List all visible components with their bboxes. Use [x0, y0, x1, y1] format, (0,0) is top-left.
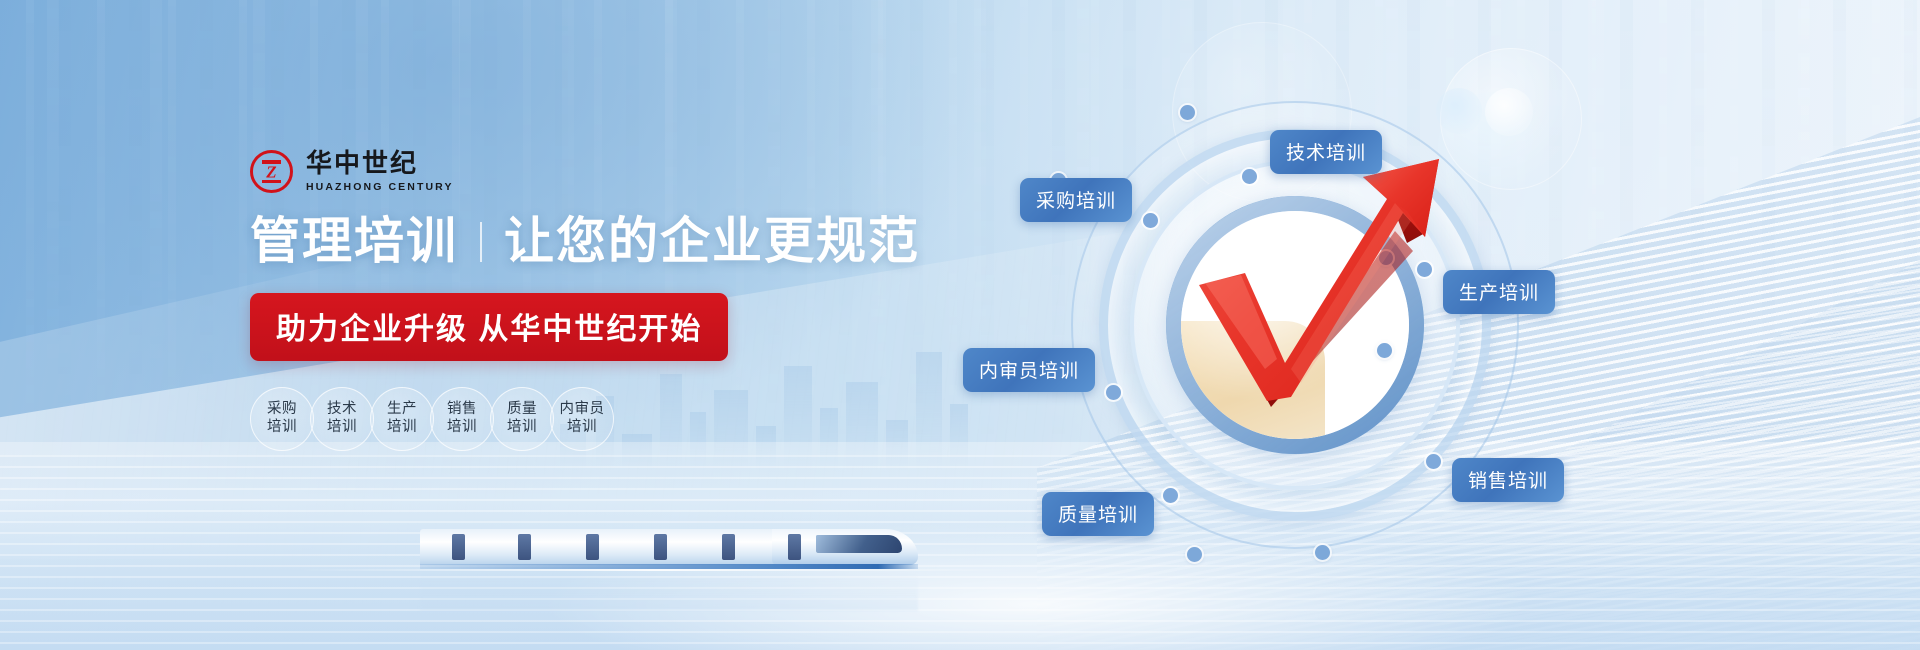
- headline-sub: 让您的企业更规范: [504, 213, 920, 271]
- brand-name-en: HUAZHONG CENTURY: [306, 182, 454, 193]
- headline-separator: [480, 222, 482, 262]
- high-speed-train-icon: [420, 515, 900, 585]
- graphic-label-zhiliang[interactable]: 质量培训: [1042, 492, 1154, 536]
- course-circle-zhiliang[interactable]: 质量 培训: [490, 387, 554, 451]
- huazhong-circular-emblem-icon: Z: [250, 150, 293, 193]
- course-circle-line2: 培训: [567, 419, 597, 437]
- train-door: [586, 534, 599, 560]
- brand-name-cn: 华中世纪: [306, 151, 454, 177]
- course-circle-line2: 培训: [327, 419, 357, 437]
- course-circle-line1: 技术: [327, 401, 357, 419]
- train-door: [452, 534, 465, 560]
- graphic-label-neishenyuan[interactable]: 内审员培训: [963, 348, 1095, 392]
- course-circle-line1: 采购: [267, 401, 297, 419]
- slogan-badge: 助力企业升级 从华中世纪开始: [250, 293, 728, 361]
- train-door: [788, 534, 801, 560]
- ring-node: [1187, 547, 1202, 562]
- page-title: 管理培训 让您的企业更规范: [250, 213, 950, 271]
- train-window: [816, 535, 902, 553]
- course-circle-xiaoshou[interactable]: 销售 培训: [430, 387, 494, 451]
- train-door: [722, 534, 735, 560]
- course-circle-line2: 培训: [387, 419, 417, 437]
- course-circle-jishu[interactable]: 技术 培训: [310, 387, 374, 451]
- ring-node: [1315, 545, 1330, 560]
- promo-banner: Z 华中世纪 HUAZHONG CENTURY 管理培训 让您的企业更规范 助力…: [0, 0, 1920, 650]
- headline-main: 管理培训: [250, 213, 458, 271]
- course-circle-line2: 培训: [267, 419, 297, 437]
- train-reflection: [420, 571, 918, 611]
- course-circle-line1: 内审员: [560, 401, 605, 419]
- course-circle-line1: 质量: [507, 401, 537, 419]
- graphic-label-xiaoshou[interactable]: 销售培训: [1452, 458, 1564, 502]
- brand-logo-text: 华中世纪 HUAZHONG CENTURY: [306, 151, 454, 193]
- graphic-label-jishu[interactable]: 技术培训: [1270, 130, 1382, 174]
- course-circle-list: 采购 培训 技术 培训 生产 培训 销售 培训 质量 培训 内审员 培训: [250, 387, 950, 451]
- course-circle-caigou[interactable]: 采购 培训: [250, 387, 314, 451]
- train-door: [654, 534, 667, 560]
- graphic-label-shengchan[interactable]: 生产培训: [1443, 270, 1555, 314]
- train-door: [518, 534, 531, 560]
- course-circle-line2: 培训: [447, 419, 477, 437]
- train-rail-line: [300, 569, 1020, 571]
- ring-node: [1180, 105, 1195, 120]
- hero-content: Z 华中世纪 HUAZHONG CENTURY 管理培训 让您的企业更规范 助力…: [250, 150, 950, 451]
- course-circle-neishenyuan[interactable]: 内审员 培训: [550, 387, 614, 451]
- course-circle-line1: 销售: [447, 401, 477, 419]
- course-circle-line2: 培训: [507, 419, 537, 437]
- brand-logo[interactable]: Z 华中世纪 HUAZHONG CENTURY: [250, 150, 950, 193]
- course-circle-line1: 生产: [387, 401, 417, 419]
- course-circle-shengchan[interactable]: 生产 培训: [370, 387, 434, 451]
- graphic-label-caigou[interactable]: 采购培训: [1020, 178, 1132, 222]
